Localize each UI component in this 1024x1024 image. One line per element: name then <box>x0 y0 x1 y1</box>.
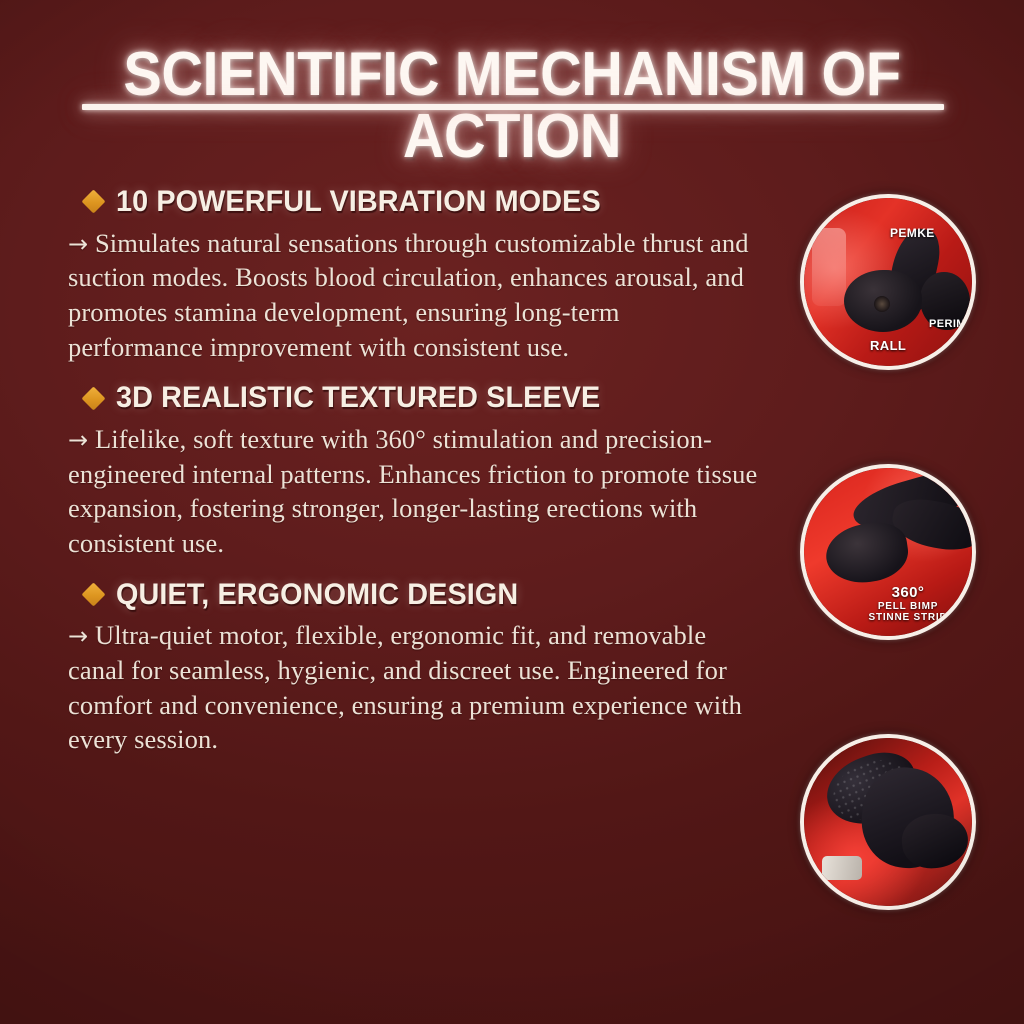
feature-item-ergonomic-design: QUIET, ERGONOMIC DESIGN → Ultra-quiet mo… <box>68 579 768 757</box>
photo-inner: 360° PELL BIMP STINNE STRID <box>804 468 972 636</box>
diamond-bullet-icon <box>81 386 105 410</box>
feature-title: QUIET, ERGONOMIC DESIGN <box>116 579 518 611</box>
feature-title: 10 POWERFUL VIBRATION MODES <box>116 186 601 218</box>
diamond-bullet-icon <box>81 582 105 606</box>
arrow-icon: → <box>68 622 88 650</box>
photo-label: PERIMOL <box>929 318 972 330</box>
feature-body: → Lifelike, soft texture with 360° stimu… <box>68 422 758 561</box>
feature-body-text: Simulates natural sensations through cus… <box>68 228 749 362</box>
device-button <box>874 296 890 312</box>
product-photo-vibration-modes: PEMKE PERIMOL RALL <box>800 194 976 370</box>
photo-label-stack: 360° PELL BIMP STINNE STRID <box>862 584 954 623</box>
feature-heading-row: QUIET, ERGONOMIC DESIGN <box>68 579 768 611</box>
photo-label: PELL BIMP <box>862 601 954 612</box>
device-shape <box>822 519 911 588</box>
poster-canvas: SCIENTIFIC MECHANISM OF ACTION 10 POWERF… <box>0 0 1024 1024</box>
photo-label: PEMKE <box>890 226 935 240</box>
device-remote <box>822 856 862 880</box>
arrow-icon: → <box>68 426 88 454</box>
feature-title: 3D REALISTIC TEXTURED SLEEVE <box>116 382 600 414</box>
product-photo-ergonomic-design <box>800 734 976 910</box>
product-photo-textured-sleeve: 360° PELL BIMP STINNE STRID <box>800 464 976 640</box>
photo-label: STINNE STRID <box>862 612 954 623</box>
photo-label-degrees: 360° <box>862 584 954 601</box>
feature-body-text: Ultra-quiet motor, flexible, ergonomic f… <box>68 620 742 754</box>
photo-highlight <box>812 228 846 306</box>
feature-item-textured-sleeve: 3D REALISTIC TEXTURED SLEEVE → Lifelike,… <box>68 382 768 560</box>
feature-heading-row: 10 POWERFUL VIBRATION MODES <box>68 186 768 218</box>
feature-item-vibration-modes: 10 POWERFUL VIBRATION MODES → Simulates … <box>68 186 768 364</box>
photo-inner <box>804 738 972 906</box>
feature-body: → Simulates natural sensations through c… <box>68 226 758 365</box>
arrow-icon: → <box>68 230 88 258</box>
diamond-bullet-icon <box>81 190 105 214</box>
feature-body-text: Lifelike, soft texture with 360° stimula… <box>68 424 757 558</box>
photo-label: RALL <box>870 338 906 353</box>
title-underline <box>82 104 944 110</box>
photo-inner: PEMKE PERIMOL RALL <box>804 198 972 366</box>
feature-body: → Ultra-quiet motor, flexible, ergonomic… <box>68 618 758 757</box>
feature-heading-row: 3D REALISTIC TEXTURED SLEEVE <box>68 382 768 414</box>
feature-list: 10 POWERFUL VIBRATION MODES → Simulates … <box>68 186 768 775</box>
